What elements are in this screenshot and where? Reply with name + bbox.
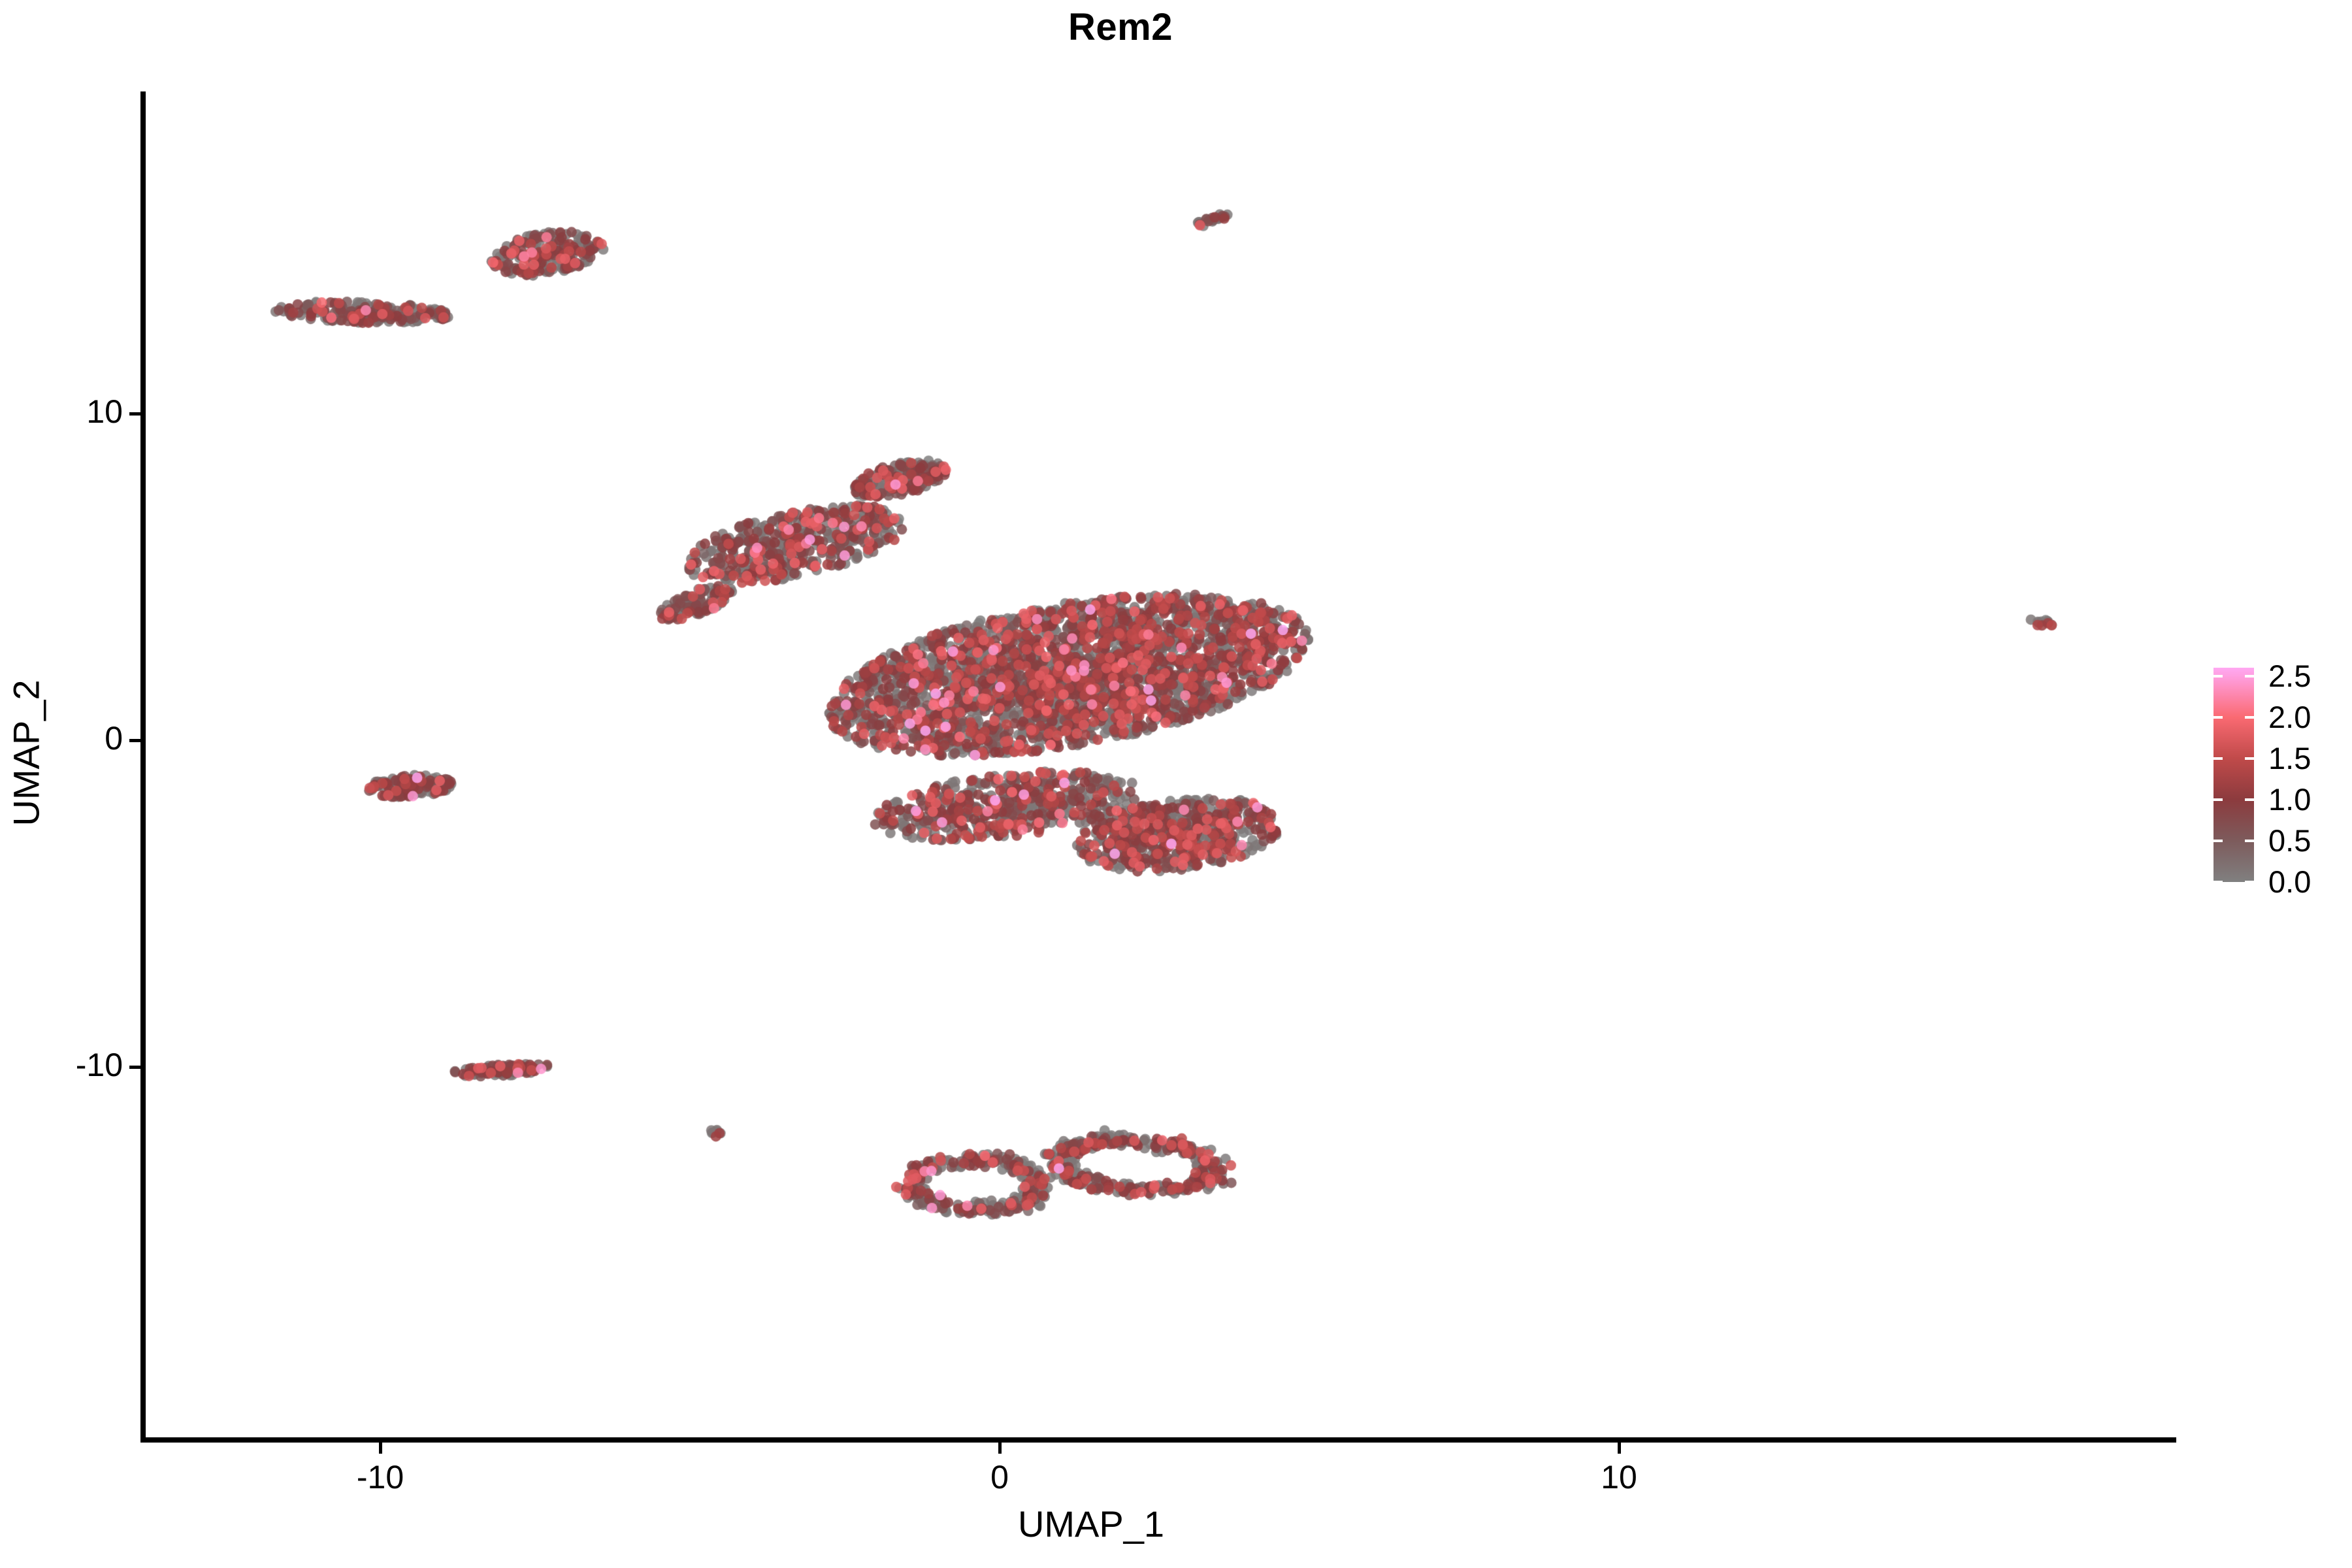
color-gradient-bar [2213,668,2254,882]
y-tick-label-0: 0 [105,719,123,757]
legend-tick-1 [2213,798,2223,801]
legend-tick-0-5 [2213,840,2223,842]
page-title: Rem2 [0,5,2241,49]
legend-label-2-0: 2.0 [2268,702,2311,732]
y-tick-label-neg10: -10 [76,1046,123,1084]
legend-label-0-0: 0.0 [2268,866,2311,897]
legend-tick-2 [2245,716,2254,719]
y-tick-label-10: 10 [86,393,123,431]
y-axis-line [140,91,146,1443]
x-tick-0 [998,1443,1002,1454]
legend-label-2-5: 2.5 [2268,661,2311,691]
x-tick-label-0: 0 [869,1458,1130,1496]
x-tick-label-10: 10 [1488,1458,1750,1496]
legend-label-0-5: 0.5 [2268,825,2311,856]
y-tick-10 [129,412,140,416]
legend-tick-1-5 [2213,757,2223,760]
x-tick-neg10 [379,1443,382,1454]
y-tick-neg10 [129,1066,140,1069]
scatter-points-canvas[interactable] [145,91,2176,1439]
x-tick-label-neg10: -10 [250,1458,511,1496]
legend-tick-1 [2245,798,2254,801]
scatter-panel[interactable] [145,91,2176,1439]
legend-tick-0-5 [2245,840,2254,842]
umap-feature-plot: Rem2 10 0 -10 -10 0 10 UMAP_1 UMAP_2 2.5… [0,0,2352,1568]
legend-tick-2 [2213,716,2223,719]
x-axis-title: UMAP_1 [0,1503,2182,1545]
color-legend[interactable]: 2.5 2.0 1.5 1.0 0.5 0.0 [2213,668,2344,890]
legend-tick-0 [2245,881,2254,883]
legend-tick-2-5 [2245,675,2254,678]
y-tick-0 [129,739,140,742]
legend-tick-2-5 [2213,675,2223,678]
legend-tick-1-5 [2245,757,2254,760]
legend-label-1-0: 1.0 [2268,784,2311,815]
legend-tick-0 [2213,881,2223,883]
x-tick-10 [1618,1443,1621,1454]
x-axis-line [140,1437,2176,1443]
legend-label-1-5: 1.5 [2268,743,2311,774]
y-axis-title: UMAP_2 [5,2,48,1505]
